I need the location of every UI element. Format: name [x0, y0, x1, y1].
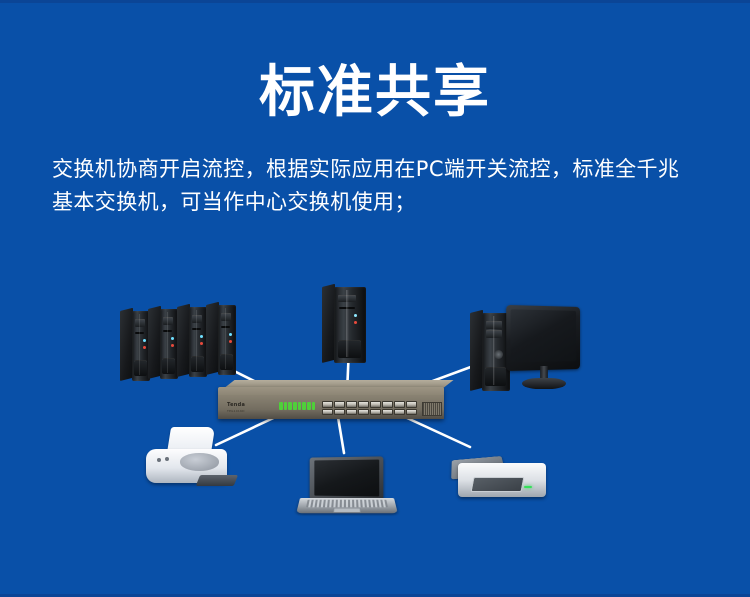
tower-power-led: [171, 337, 174, 340]
tower-power-led: [229, 333, 232, 336]
scanner-status-led: [524, 486, 532, 488]
server-tower-1[interactable]: [120, 311, 150, 381]
tower-lower-panel: [485, 367, 505, 385]
monitor-screen: [510, 310, 576, 363]
tower-highlight: [167, 312, 168, 374]
switch-port[interactable]: [394, 401, 405, 408]
switch-port[interactable]: [358, 401, 369, 408]
page-subtitle: 交换机协商开启流控，根据实际应用在PC端开关流控，标准全千兆 基本交换机，可当作…: [52, 153, 707, 219]
printer-top-lid: [180, 453, 218, 470]
switch-port[interactable]: [322, 409, 333, 416]
switch-led: [288, 402, 292, 410]
switch-port[interactable]: [358, 409, 369, 416]
switch-vent-grille: [422, 402, 442, 415]
tower-front-panel: [218, 305, 236, 375]
laptop-screen: [313, 459, 378, 497]
tower-highlight: [493, 316, 495, 385]
tower-lower-panel: [220, 354, 233, 370]
scanner-glass-bed: [471, 477, 525, 492]
switch-led: [293, 402, 297, 410]
top-edge-line: [0, 0, 750, 3]
desktop-pc[interactable]: [470, 307, 580, 395]
switch-led: [279, 402, 283, 410]
tower-front-panel: [160, 309, 178, 379]
tower-pc-top[interactable]: [322, 287, 366, 363]
tower-power-led: [354, 314, 357, 317]
server-stack[interactable]: [120, 305, 236, 381]
tower-pc-chassis[interactable]: [322, 287, 366, 363]
monitor-bezel: [506, 305, 580, 371]
tower-highlight: [139, 314, 140, 376]
printer-button[interactable]: [157, 458, 161, 462]
tower-highlight: [225, 308, 226, 370]
laptop-touchpad[interactable]: [333, 508, 362, 513]
tower-activity-led: [171, 344, 174, 347]
tower-activity-led: [229, 340, 232, 343]
switch-port[interactable]: [334, 401, 345, 408]
tower-power-led: [200, 335, 203, 338]
switch-model-label: TEG1016D: [227, 409, 245, 413]
page-title: 标准共享: [0, 64, 750, 122]
server-tower-3[interactable]: [177, 307, 207, 377]
tower-lower-panel: [191, 356, 204, 372]
laptop-keyboard[interactable]: [306, 500, 389, 507]
switch-led: [302, 402, 306, 410]
switch-port[interactable]: [346, 401, 357, 408]
switch-led: [307, 402, 311, 410]
tower-lower-panel: [162, 358, 175, 374]
switch-chassis: Tenda TEG1016D: [218, 387, 444, 419]
switch-port[interactable]: [346, 409, 357, 416]
switch-port[interactable]: [406, 401, 417, 408]
monitor[interactable]: [508, 307, 580, 391]
switch-port[interactable]: [334, 409, 345, 416]
switch-led: [298, 402, 302, 410]
network-topology-diagram: Tenda TEG1016D: [0, 265, 750, 555]
switch-led: [312, 402, 316, 410]
subtitle-line-1: 交换机协商开启流控，根据实际应用在PC端开关流控，标准全千兆: [52, 153, 707, 186]
switch-port[interactable]: [394, 409, 405, 416]
tower-lower-panel: [134, 360, 147, 376]
server-tower-2[interactable]: [148, 309, 178, 379]
tower-power-led: [143, 339, 146, 342]
laptop-base[interactable]: [296, 498, 398, 513]
tower-highlight: [196, 310, 197, 372]
switch-port-array[interactable]: [322, 401, 417, 415]
product-feature-banner: 标准共享 交换机协商开启流控，根据实际应用在PC端开关流控，标准全千兆 基本交换…: [0, 0, 750, 597]
tower-lower-panel: [338, 340, 361, 358]
scanner-body: [458, 463, 546, 498]
switch-port[interactable]: [370, 409, 381, 416]
tower-activity-led: [200, 342, 203, 345]
printer-button-2[interactable]: [165, 457, 169, 461]
switch-port[interactable]: [370, 401, 381, 408]
switch-led-bank: [279, 402, 315, 410]
link-laptop: [338, 417, 344, 453]
printer-output-tray: [196, 475, 239, 486]
tower-front-panel: [189, 307, 207, 377]
switch-port[interactable]: [322, 401, 333, 408]
tower-activity-led: [354, 321, 357, 324]
laptop-lid: [309, 456, 383, 501]
laptop[interactable]: [300, 457, 394, 527]
switch-brand-label: Tenda: [227, 402, 245, 408]
scanner[interactable]: [452, 441, 552, 505]
network-switch[interactable]: Tenda TEG1016D: [218, 387, 444, 419]
tower-power-button[interactable]: [494, 350, 503, 359]
monitor-stand-base: [522, 378, 565, 390]
subtitle-line-2: 基本交换机，可当作中心交换机使用；: [52, 186, 707, 219]
tower-highlight: [346, 290, 349, 357]
tower-front-panel: [334, 287, 366, 363]
server-tower-4[interactable]: [206, 305, 236, 375]
switch-front-face: Tenda TEG1016D: [218, 395, 444, 419]
switch-port[interactable]: [382, 409, 393, 416]
switch-port[interactable]: [382, 401, 393, 408]
tower-activity-led: [143, 346, 146, 349]
switch-port[interactable]: [406, 409, 417, 416]
printer[interactable]: [144, 427, 240, 493]
desktop-tower[interactable]: [470, 313, 510, 391]
switch-led: [284, 402, 288, 410]
